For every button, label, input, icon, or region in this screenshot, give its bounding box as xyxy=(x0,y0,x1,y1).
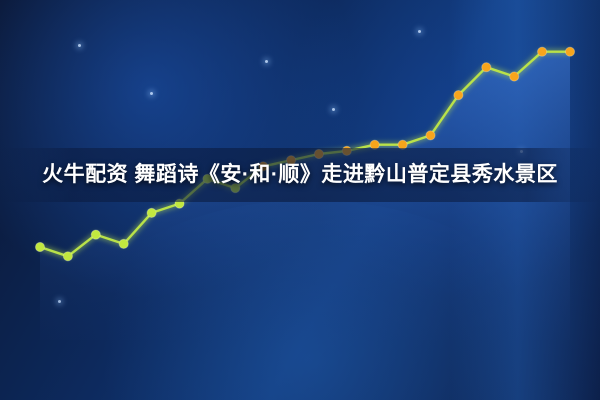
chart-point xyxy=(35,242,44,251)
headline-title: 火牛配资 舞蹈诗《安·和·顺》走进黔山普定县秀水景区 xyxy=(0,148,600,202)
chart-point xyxy=(147,208,156,217)
chart-point xyxy=(426,131,435,140)
chart-point xyxy=(454,91,463,100)
chart-point xyxy=(565,47,574,56)
chart-point xyxy=(510,72,519,81)
chart-point xyxy=(63,252,72,261)
chart-point xyxy=(91,230,100,239)
chart-point xyxy=(482,63,491,72)
chart-point xyxy=(538,47,547,56)
chart-background-image: 火牛配资 舞蹈诗《安·和·顺》走进黔山普定县秀水景区 xyxy=(0,0,600,400)
chart-point xyxy=(119,239,128,248)
